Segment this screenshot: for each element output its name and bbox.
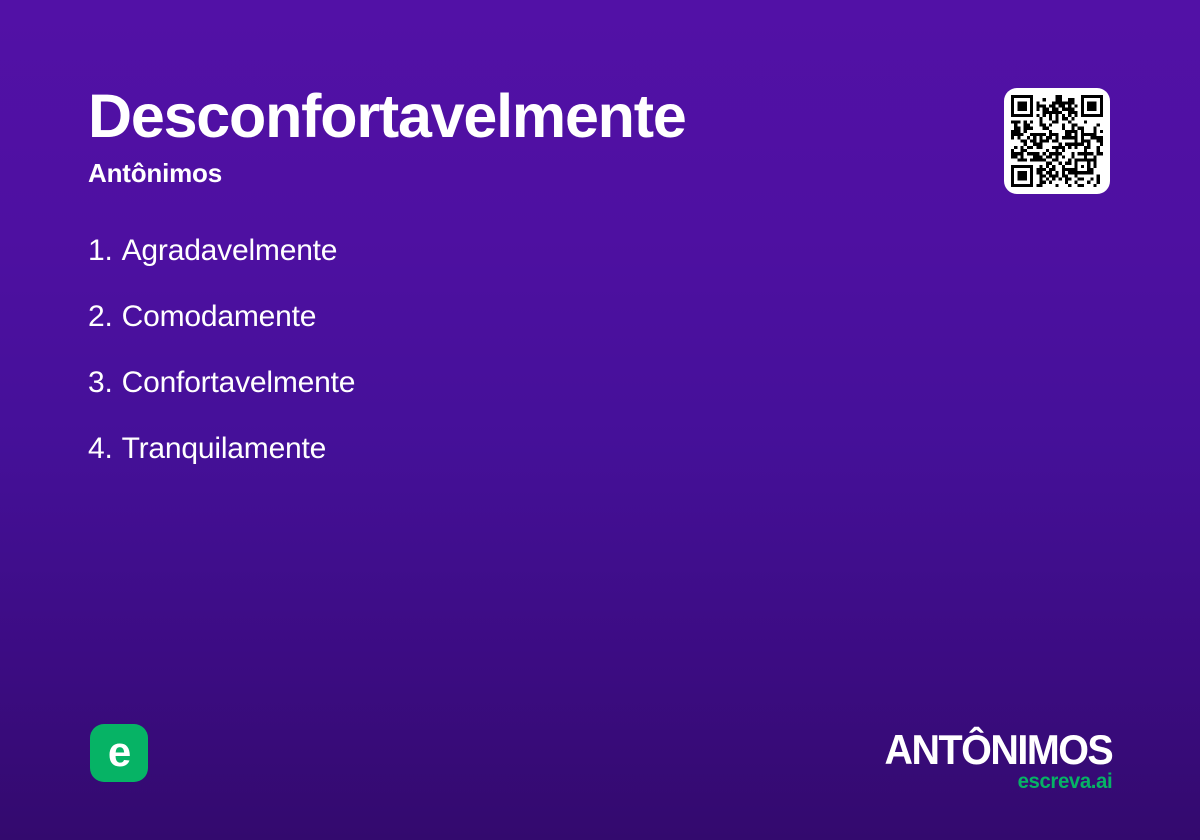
list-item: 3.Confortavelmente — [88, 368, 928, 398]
header: Desconfortavelmente Antônimos — [88, 86, 948, 186]
footer-brand-subtitle: escreva.ai — [877, 771, 1112, 792]
list-item-word: Agradavelmente — [122, 236, 338, 266]
qr-code-panel[interactable] — [1004, 88, 1110, 194]
list-item-word: Confortavelmente — [122, 368, 356, 398]
list-item: 1.Agradavelmente — [88, 236, 928, 266]
footer-brand: ANTÔNIMOS escreva.ai — [870, 730, 1112, 792]
qr-code-icon[interactable] — [1011, 95, 1103, 187]
list-item-word: Tranquilamente — [122, 434, 327, 464]
list-item-index: 3. — [88, 368, 113, 398]
list-item-index: 1. — [88, 236, 113, 266]
footer-brand-title: ANTÔNIMOS — [884, 730, 1112, 769]
antonyms-card: Desconfortavelmente Antônimos 1.Agradave… — [0, 0, 1200, 840]
list-item: 2.Comodamente — [88, 302, 928, 332]
list-item: 4.Tranquilamente — [88, 434, 928, 464]
logo-letter: e — [108, 731, 130, 773]
page-title: Desconfortavelmente — [88, 86, 948, 147]
list-item-word: Comodamente — [122, 302, 317, 332]
escreva-logo-mark[interactable]: e — [90, 724, 148, 782]
antonyms-list: 1.Agradavelmente2.Comodamente3.Confortav… — [88, 236, 928, 464]
page-subtitle: Antônimos — [88, 160, 948, 186]
list-item-index: 2. — [88, 302, 113, 332]
list-item-index: 4. — [88, 434, 113, 464]
